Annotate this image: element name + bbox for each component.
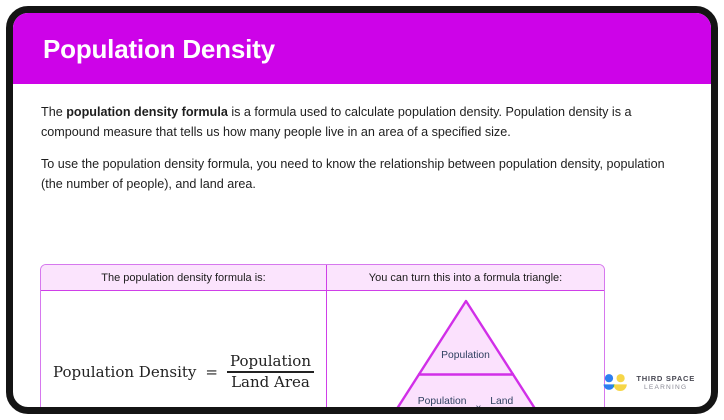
formula-table: The population density formula is: You c… <box>40 264 605 414</box>
formula-denominator: Land Area <box>228 373 313 392</box>
triangle-bottom-right-label: Land Area <box>490 396 513 414</box>
triangle-top-label: Population <box>372 350 560 363</box>
table-header-row: The population density formula is: You c… <box>41 265 604 291</box>
two-people-glyph <box>602 373 629 393</box>
triangle-bottom-right-line1: Land <box>490 396 513 409</box>
body-yellow <box>614 384 627 391</box>
head-yellow <box>617 374 625 382</box>
head-blue <box>605 374 613 382</box>
triangle-bottom-left-line2: Density <box>418 409 467 414</box>
third-space-learning-icon <box>602 373 629 393</box>
paragraph-1-bold-term: population density formula <box>66 105 228 119</box>
triangle-bottom-right-line2: Area <box>490 409 513 414</box>
population-density-formula: Population Density = Population Land Are… <box>53 353 314 392</box>
triangle-bottom-left-label: Population Density <box>418 396 467 414</box>
table-body-row: Population Density = Population Land Are… <box>41 291 604 414</box>
formula-fraction: Population Land Area <box>227 353 314 392</box>
table-header-triangle: You can turn this into a formula triangl… <box>327 265 604 290</box>
brand-logo: THIRD SPACE LEARNING <box>602 373 695 393</box>
formula-equals-sign: = <box>203 363 220 381</box>
table-header-formula: The population density formula is: <box>41 265 327 290</box>
formula-left-side: Population Density <box>53 363 196 381</box>
formula-triangle: Population Population Density × Land Are… <box>372 296 560 414</box>
paragraph-1: The population density formula is a form… <box>41 103 683 142</box>
paragraph-2: To use the population density formula, y… <box>41 155 683 194</box>
triangle-bottom-left-line1: Population <box>418 396 467 409</box>
page-title: Population Density <box>43 36 275 62</box>
page-header: Population Density <box>13 13 711 84</box>
brand-line-2: LEARNING <box>636 384 695 391</box>
table-cell-triangle: Population Population Density × Land Are… <box>327 291 604 414</box>
table-cell-formula: Population Density = Population Land Are… <box>41 291 327 414</box>
brand-wordmark: THIRD SPACE LEARNING <box>636 375 695 391</box>
paragraph-1-part-1: The <box>41 105 66 119</box>
brand-line-1: THIRD SPACE <box>636 375 695 383</box>
card-frame: Population Density The population densit… <box>6 6 718 414</box>
formula-numerator: Population <box>227 353 314 372</box>
content-area: The population density formula is a form… <box>13 84 711 407</box>
screenshot-root: Population Density The population densit… <box>0 0 724 420</box>
body-blue <box>604 384 615 389</box>
triangle-bottom-row: Population Density × Land Area <box>372 396 560 414</box>
triangle-multiply-operator: × <box>475 403 481 414</box>
